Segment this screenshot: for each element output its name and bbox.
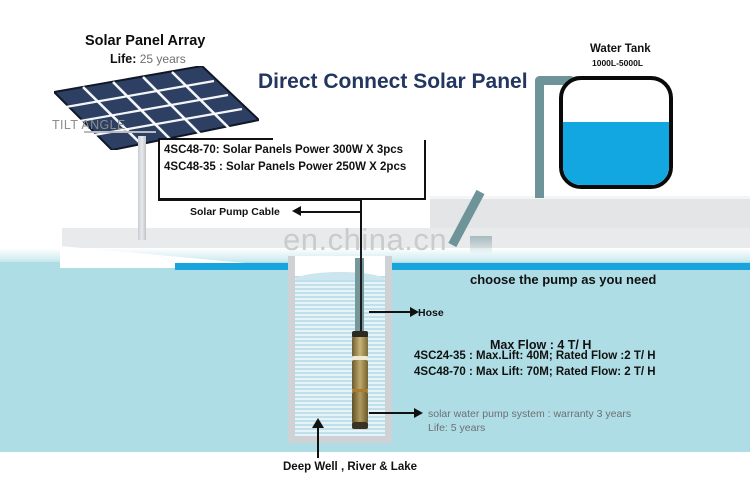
choose-pump-heading: choose the pump as you need <box>470 272 656 287</box>
hose-arrow-line <box>369 311 413 313</box>
solar-array-life: Life: 25 years <box>110 52 186 66</box>
tank-water-level <box>563 122 669 185</box>
pump-arrow-line <box>369 412 417 414</box>
hose-label: Hose <box>418 307 444 319</box>
tank-hose-vertical <box>535 80 544 198</box>
water-tank-capacity: 1000L-5000L <box>592 58 643 68</box>
bottom-white-strip <box>0 452 750 499</box>
pump-upper-body <box>352 337 368 357</box>
cable-horizontal-segment <box>300 211 362 213</box>
panel-mast <box>138 136 146 240</box>
deep-well-label: Deep Well , River & Lake <box>283 461 417 473</box>
solar-pump-cable-label: Solar Pump Cable <box>190 206 280 218</box>
tank-hose-shadow <box>470 236 492 254</box>
submersible-pump <box>352 331 368 429</box>
water-tank-heading: Water Tank <box>590 43 651 55</box>
well-wall-right <box>385 256 392 442</box>
pump-arrow-icon <box>414 408 423 418</box>
drop-cable <box>360 250 362 336</box>
pump-model-1: 4SC24-35 : Max.Lift: 40M; Rated Flow :2 … <box>414 350 656 362</box>
watermark: en.china.cn <box>283 222 447 258</box>
warranty-line-2: Life: 5 years <box>428 422 485 434</box>
pump-mid-body <box>352 360 368 390</box>
panel-spec-line-1: 4SC48-70: Solar Panels Power 300W X 3pcs <box>164 144 403 156</box>
diagram-canvas: Solar Panel Array Life: 25 years TILT AN… <box>0 0 750 499</box>
pump-model-2: 4SC48-70 : Max Lift: 70M; Rated Flow: 2 … <box>414 366 656 378</box>
solar-array-heading: Solar Panel Array <box>85 33 205 49</box>
cable-top-segment <box>158 199 362 201</box>
water-surface-line <box>175 263 750 270</box>
well-arrow-icon <box>312 418 324 428</box>
pump-motor-body <box>352 392 368 423</box>
well-arrow-line <box>317 425 319 458</box>
cable-arrow-icon <box>292 206 301 216</box>
well-wall-left <box>288 256 295 442</box>
life-value: 25 years <box>140 52 186 66</box>
well-wall-bottom <box>288 436 392 443</box>
panel-spec-line-2: 4SC48-35 : Solar Panels Power 250W X 2pc… <box>164 161 406 173</box>
page-title: Direct Connect Solar Panel <box>258 70 528 94</box>
pump-foot <box>352 422 368 429</box>
tilt-angle-label: TILT ANGLE <box>52 118 126 132</box>
warranty-note: solar water pump system : warranty 3 yea… <box>428 407 631 435</box>
warranty-line-1: solar water pump system : warranty 3 yea… <box>428 408 631 420</box>
water-tank <box>559 76 673 189</box>
life-label: Life: <box>110 52 136 66</box>
